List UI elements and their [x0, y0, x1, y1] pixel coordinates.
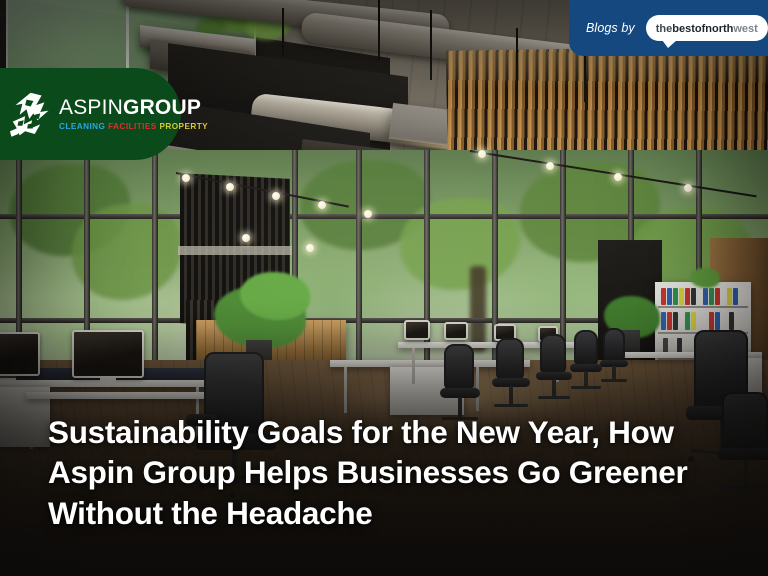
binder: [667, 288, 672, 305]
desk-leg: [412, 348, 415, 384]
bestofnorthwest-logo-bubble[interactable]: thebestofnorthwest: [646, 15, 768, 41]
aspin-group-logo[interactable]: ASPINGROUP CLEANING FACILITIES PROPERTY: [0, 68, 181, 160]
binder: [673, 288, 678, 305]
hero-banner: ASPINGROUP CLEANING FACILITIES PROPERTY …: [0, 0, 768, 576]
binder: [729, 312, 734, 330]
blogs-by-label: Blogs by: [586, 21, 635, 35]
binder: [679, 288, 684, 305]
pendant-bulb: [684, 184, 692, 192]
binder: [661, 312, 666, 330]
pendant-bulb: [318, 201, 326, 209]
logo-tagline-cleaning: CLEANING: [59, 122, 105, 131]
pendant-bulb: [242, 234, 250, 242]
pendant-bulb: [226, 183, 234, 191]
binder: [715, 312, 720, 330]
logo-name-light: ASPIN: [59, 96, 123, 119]
ceiling-hanger-rod-2: [430, 10, 432, 80]
binder: [703, 288, 708, 305]
binder: [667, 312, 672, 330]
logo-wordmark: ASPINGROUP CLEANING FACILITIES PROPERTY: [59, 97, 208, 131]
binder: [685, 288, 690, 305]
pendant-bulb: [364, 210, 372, 218]
window-transom: [0, 214, 768, 219]
monitor: [72, 330, 144, 378]
binder: [685, 312, 690, 330]
logo-company-name: ASPINGROUP: [59, 97, 208, 118]
binder: [661, 288, 666, 305]
binder: [673, 312, 678, 330]
logo-tagline-property: PROPERTY: [159, 122, 208, 131]
brand-part-north: north: [705, 23, 733, 35]
aspin-group-leaf-mark: [10, 91, 54, 137]
tree-trunk-shadow: [470, 266, 486, 352]
brand-part-the: the: [656, 23, 673, 35]
logo-tagline-facilities: FACILITIES: [108, 122, 157, 131]
ceiling-hanger-rod-5: [282, 8, 284, 56]
pendant-bulb: [614, 173, 622, 181]
pendant-bulb: [306, 244, 314, 252]
monitor: [404, 320, 430, 340]
brand-part-bestof: bestof: [672, 23, 705, 35]
logo-name-bold: GROUP: [123, 96, 201, 119]
desk-surface-2: [26, 392, 210, 399]
monitor-stand: [100, 378, 116, 383]
binder: [733, 288, 738, 305]
ceiling-hanger-rod-3: [516, 28, 518, 108]
pendant-bulb: [478, 150, 486, 158]
office-plant-shelf: [690, 268, 720, 288]
page-title: Sustainability Goals for the New Year, H…: [48, 412, 738, 533]
logo-tagline: CLEANING FACILITIES PROPERTY: [59, 122, 208, 131]
brand-part-west: west: [733, 23, 757, 35]
blogs-by-badge[interactable]: Blogs by thebestofnorthwest: [569, 0, 768, 56]
binder: [691, 312, 696, 330]
monitor: [444, 322, 468, 340]
binder: [715, 288, 720, 305]
pendant-bulb: [546, 162, 554, 170]
monitor-left: [0, 332, 40, 376]
binder: [709, 288, 714, 305]
binder: [709, 312, 714, 330]
slat-screen-band: [178, 246, 292, 255]
binder: [727, 288, 732, 305]
desk-leg: [344, 367, 347, 413]
pendant-bulb: [272, 192, 280, 200]
bestofnorthwest-wordmark: thebestofnorthwest: [656, 23, 758, 35]
ceiling-hanger-rod: [378, 0, 380, 60]
pendant-bulb: [182, 174, 190, 182]
binder: [691, 288, 696, 305]
